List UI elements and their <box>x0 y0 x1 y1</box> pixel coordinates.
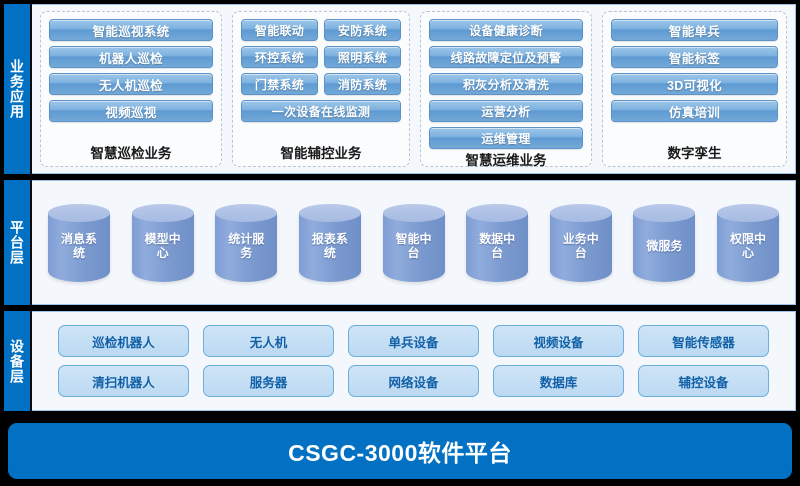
cylinder-label: 微服务 <box>641 240 687 254</box>
group-row: 门禁系统 消防系统 <box>241 73 401 95</box>
group-items: 设备健康诊断 线路故障定位及预警 积灰分析及清洗 运营分析 运维管理 <box>429 19 583 149</box>
pill-item[interactable]: 一次设备在线监测 <box>241 100 401 122</box>
group-title: 智能辅控业务 <box>241 142 401 162</box>
group-smart-inspection: 智能巡视系统 机器人巡检 无人机巡检 视频巡视 智慧巡检业务 <box>40 11 222 167</box>
device-box[interactable]: 清扫机器人 <box>58 365 189 397</box>
device-box[interactable]: 服务器 <box>203 365 334 397</box>
cylinder-top-icon <box>215 204 277 222</box>
pill-item[interactable]: 设备健康诊断 <box>429 19 583 41</box>
device-row: 清扫机器人 服务器 网络设备 数据库 辅控设备 <box>58 365 769 397</box>
group-items: 智能单兵 智能标签 3D可视化 仿真培训 <box>611 19 778 122</box>
cylinder-node[interactable]: 智能中台 <box>383 204 445 282</box>
cylinder-label: 权限中心 <box>725 233 771 261</box>
device-box[interactable]: 智能传感器 <box>638 325 769 357</box>
cylinder-node[interactable]: 权限中心 <box>717 204 779 282</box>
pill-item[interactable]: 无人机巡检 <box>49 73 213 95</box>
cylinder-node[interactable]: 微服务 <box>633 204 695 282</box>
device-box[interactable]: 巡检机器人 <box>58 325 189 357</box>
device-box[interactable]: 无人机 <box>203 325 334 357</box>
layer-tab-label: 设备层 <box>10 339 24 384</box>
cylinder-top-icon <box>550 204 612 222</box>
cylinder-top-icon <box>383 204 445 222</box>
pill-item[interactable]: 视频巡视 <box>49 100 213 122</box>
pill-item[interactable]: 智能巡视系统 <box>49 19 213 41</box>
pill-item[interactable]: 3D可视化 <box>611 73 778 95</box>
group-digital-twin: 智能单兵 智能标签 3D可视化 仿真培训 数字孪生 <box>602 11 787 167</box>
group-title: 数字孪生 <box>611 142 778 162</box>
pill-item[interactable]: 积灰分析及清洗 <box>429 73 583 95</box>
cylinder-label: 统计服务 <box>223 233 269 261</box>
layer-platform-body: 消息系统 模型中心 统计服务 报表系统 智能中台 <box>32 180 796 305</box>
cylinder-label: 数据中台 <box>474 233 520 261</box>
cylinder-node[interactable]: 消息系统 <box>48 204 110 282</box>
architecture-diagram: 业务应用 智能巡视系统 机器人巡检 无人机巡检 视频巡视 智慧巡检业务 智能联动… <box>0 0 800 486</box>
device-box[interactable]: 视频设备 <box>493 325 624 357</box>
pill-item[interactable]: 环控系统 <box>241 46 318 68</box>
group-intelligent-auxiliary-control: 智能联动 安防系统 环控系统 照明系统 门禁系统 消防系统 一次设备在线监测 <box>232 11 410 167</box>
pill-item[interactable]: 智能单兵 <box>611 19 778 41</box>
layer-device-body: 巡检机器人 无人机 单兵设备 视频设备 智能传感器 清扫机器人 服务器 网络设备… <box>32 311 796 411</box>
device-box[interactable]: 数据库 <box>493 365 624 397</box>
pill-item[interactable]: 智能联动 <box>241 19 318 41</box>
group-items: 智能联动 安防系统 环控系统 照明系统 门禁系统 消防系统 一次设备在线监测 <box>241 19 401 122</box>
cylinder-top-icon <box>299 204 361 222</box>
cylinder-label: 模型中心 <box>140 233 186 261</box>
group-row: 智能联动 安防系统 <box>241 19 401 41</box>
cylinder-node[interactable]: 数据中台 <box>466 204 528 282</box>
layer-tab-label: 平台层 <box>10 220 24 265</box>
group-row: 环控系统 照明系统 <box>241 46 401 68</box>
pill-item[interactable]: 智能标签 <box>611 46 778 68</box>
pill-item[interactable]: 运维管理 <box>429 127 583 149</box>
device-row: 巡检机器人 无人机 单兵设备 视频设备 智能传感器 <box>58 325 769 357</box>
layer-business-application: 业务应用 智能巡视系统 机器人巡检 无人机巡检 视频巡视 智慧巡检业务 智能联动… <box>4 4 796 174</box>
cylinder-top-icon <box>132 204 194 222</box>
cylinder-top-icon <box>48 204 110 222</box>
group-row: 一次设备在线监测 <box>241 100 401 122</box>
layer-tab-label: 业务应用 <box>10 59 24 119</box>
platform-bar[interactable]: CSGC-3000软件平台 <box>8 423 792 479</box>
pill-item[interactable]: 照明系统 <box>324 46 401 68</box>
pill-item[interactable]: 安防系统 <box>324 19 401 41</box>
device-box[interactable]: 单兵设备 <box>348 325 479 357</box>
cylinder-label: 智能中台 <box>391 233 437 261</box>
device-box[interactable]: 网络设备 <box>348 365 479 397</box>
cylinder-node[interactable]: 模型中心 <box>132 204 194 282</box>
group-items: 智能巡视系统 机器人巡检 无人机巡检 视频巡视 <box>49 19 213 122</box>
cylinder-label: 业务中台 <box>558 233 604 261</box>
layer-platform: 平台层 消息系统 模型中心 统计服务 报表系统 <box>4 180 796 305</box>
group-title: 智慧巡检业务 <box>49 142 213 162</box>
cylinder-node[interactable]: 报表系统 <box>299 204 361 282</box>
cylinder-label: 报表系统 <box>307 233 353 261</box>
pill-item[interactable]: 门禁系统 <box>241 73 318 95</box>
cylinder-node[interactable]: 业务中台 <box>550 204 612 282</box>
pill-item[interactable]: 运营分析 <box>429 100 583 122</box>
pill-item[interactable]: 线路故障定位及预警 <box>429 46 583 68</box>
cylinder-top-icon <box>466 204 528 222</box>
layer-business-body: 智能巡视系统 机器人巡检 无人机巡检 视频巡视 智慧巡检业务 智能联动 安防系统… <box>32 4 796 174</box>
cylinder-top-icon <box>633 204 695 222</box>
layer-tab-business-application: 业务应用 <box>4 4 32 174</box>
group-title: 智慧运维业务 <box>429 149 583 169</box>
layer-tab-platform: 平台层 <box>4 180 32 305</box>
cylinder-label: 消息系统 <box>56 233 102 261</box>
pill-item[interactable]: 机器人巡检 <box>49 46 213 68</box>
cylinder-node[interactable]: 统计服务 <box>215 204 277 282</box>
pill-item[interactable]: 消防系统 <box>324 73 401 95</box>
group-smart-operations: 设备健康诊断 线路故障定位及预警 积灰分析及清洗 运营分析 运维管理 智慧运维业… <box>420 11 592 167</box>
device-box[interactable]: 辅控设备 <box>638 365 769 397</box>
layer-tab-device: 设备层 <box>4 311 32 411</box>
cylinder-top-icon <box>717 204 779 222</box>
layer-device: 设备层 巡检机器人 无人机 单兵设备 视频设备 智能传感器 清扫机器人 服务器 … <box>4 311 796 411</box>
pill-item[interactable]: 仿真培训 <box>611 100 778 122</box>
